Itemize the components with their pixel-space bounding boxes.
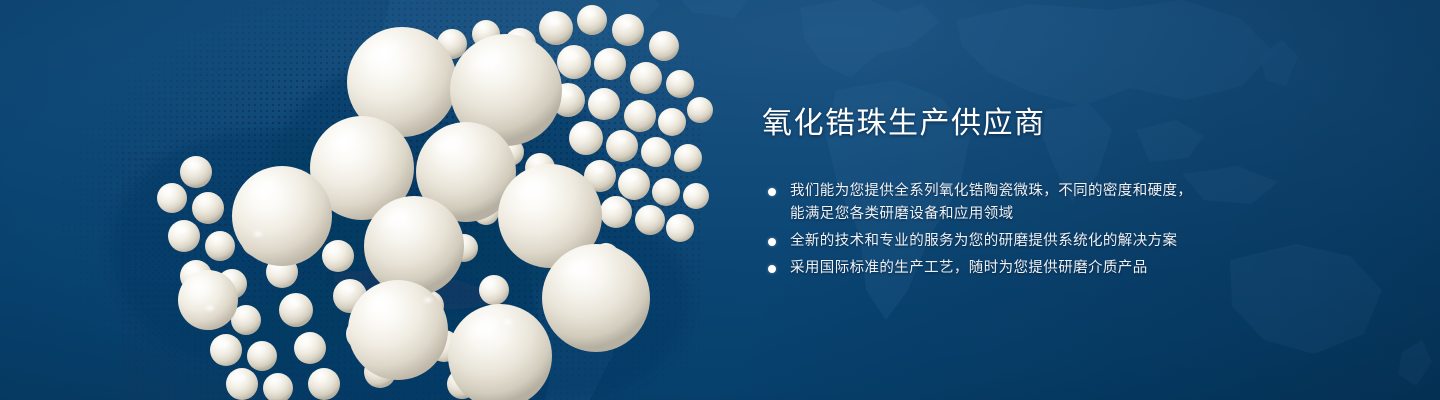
list-item: 采用国际标准的生产工艺，随时为您提供研磨介质产品 xyxy=(762,257,1262,280)
bullet-line: 我们能为您提供全系列氧化锆陶瓷微珠，不同的密度和硬度， xyxy=(790,180,1262,203)
bullet-dot-icon xyxy=(768,188,776,196)
bullet-dot-icon xyxy=(768,265,776,273)
feature-bullet-list: 我们能为您提供全系列氧化锆陶瓷微珠，不同的密度和硬度， 能满足您各类研磨设备和应… xyxy=(762,180,1262,280)
list-item: 我们能为您提供全系列氧化锆陶瓷微珠，不同的密度和硬度， 能满足您各类研磨设备和应… xyxy=(762,180,1262,226)
bullet-dot-icon xyxy=(768,238,776,246)
list-item: 全新的技术和专业的服务为您的研磨提供系统化的解决方案 xyxy=(762,230,1262,253)
page-title: 氧化锆珠生产供应商 xyxy=(762,106,1262,142)
hero-banner: 氧化锆珠生产供应商 我们能为您提供全系列氧化锆陶瓷微珠，不同的密度和硬度， 能满… xyxy=(0,0,1440,400)
banner-copy: 氧化锆珠生产供应商 我们能为您提供全系列氧化锆陶瓷微珠，不同的密度和硬度， 能满… xyxy=(762,106,1262,284)
bullet-line: 采用国际标准的生产工艺，随时为您提供研磨介质产品 xyxy=(790,257,1262,280)
bullet-line: 全新的技术和专业的服务为您的研磨提供系统化的解决方案 xyxy=(790,230,1262,253)
bullet-line: 能满足您各类研磨设备和应用领域 xyxy=(790,203,1262,226)
